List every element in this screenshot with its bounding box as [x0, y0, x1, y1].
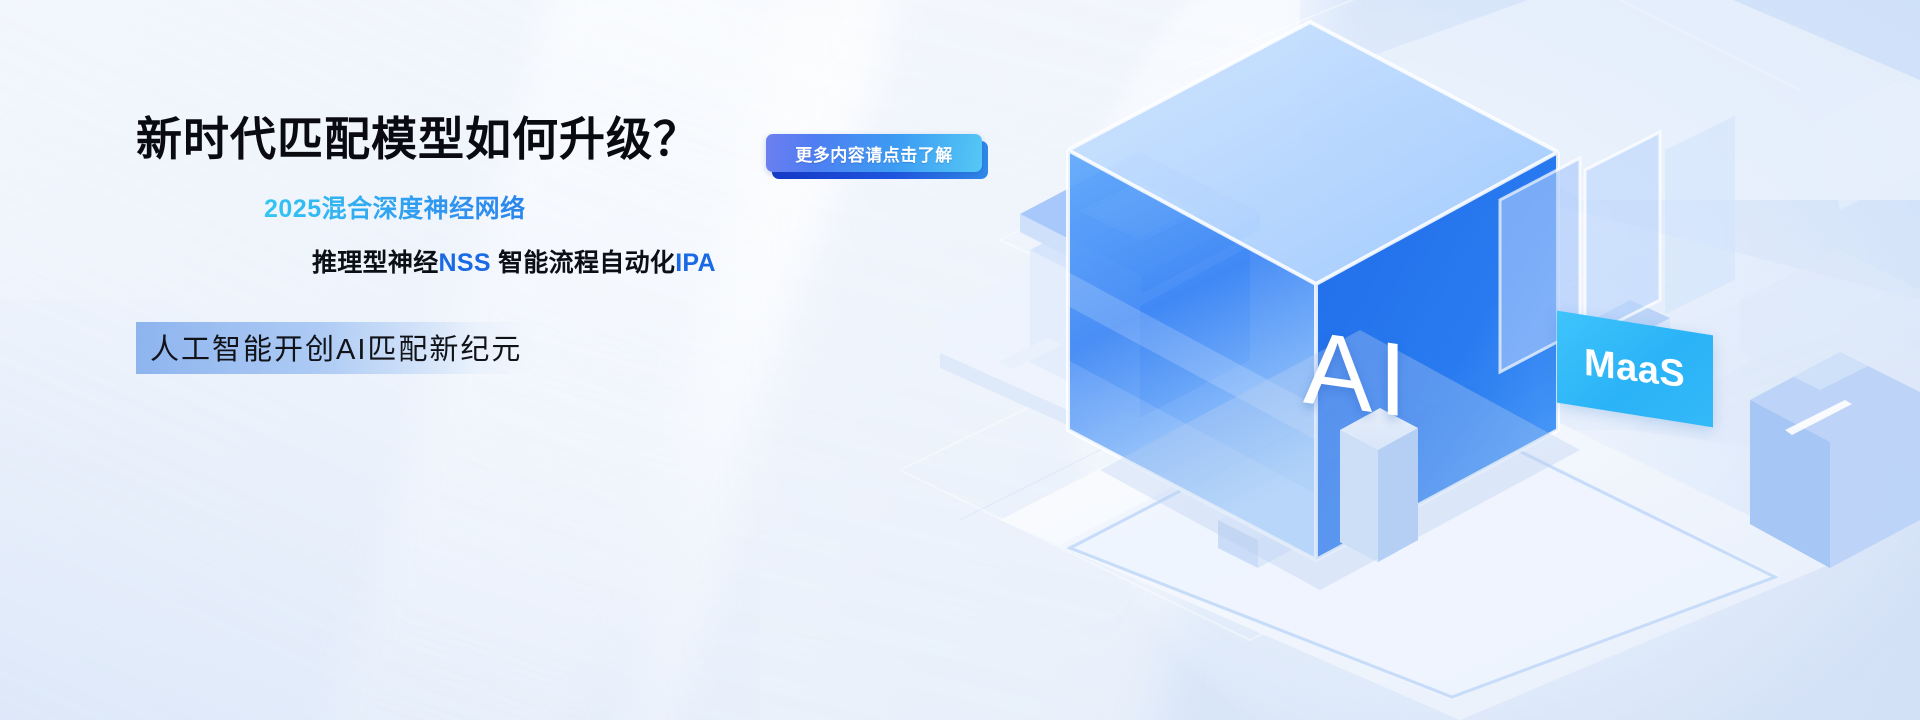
feature-text-2: 智能流程自动化 — [491, 249, 675, 277]
cta-button-label: 更多内容请点击了解 — [795, 141, 953, 166]
cube-front-face: AI — [1253, 285, 1463, 465]
feature-text-1: 推理型神经 — [312, 249, 439, 277]
tagline: 人工智能开创AI匹配新纪元 — [150, 326, 522, 368]
cta-button-face[interactable]: 更多内容请点击了解 — [766, 134, 982, 172]
ai-label: AI — [1303, 308, 1413, 442]
promo-banner: AI MaaS 新时代匹配模型如何升级？ 2025混合深度神经网络 推理型神经N… — [0, 0, 1920, 720]
feature-line: 推理型神经NSS 智能流程自动化IPA — [136, 243, 896, 279]
ai-illustration: AI MaaS — [940, 0, 1920, 720]
maas-label: MaaS — [1584, 341, 1685, 397]
sub-headline: 2025混合深度神经网络 — [136, 189, 896, 225]
feature-highlight-ipa: IPA — [675, 249, 716, 277]
cta-button[interactable]: 更多内容请点击了解 — [766, 134, 988, 176]
feature-highlight-nss: NSS — [439, 249, 491, 277]
tagline-band: 人工智能开创AI匹配新纪元 — [136, 322, 536, 374]
